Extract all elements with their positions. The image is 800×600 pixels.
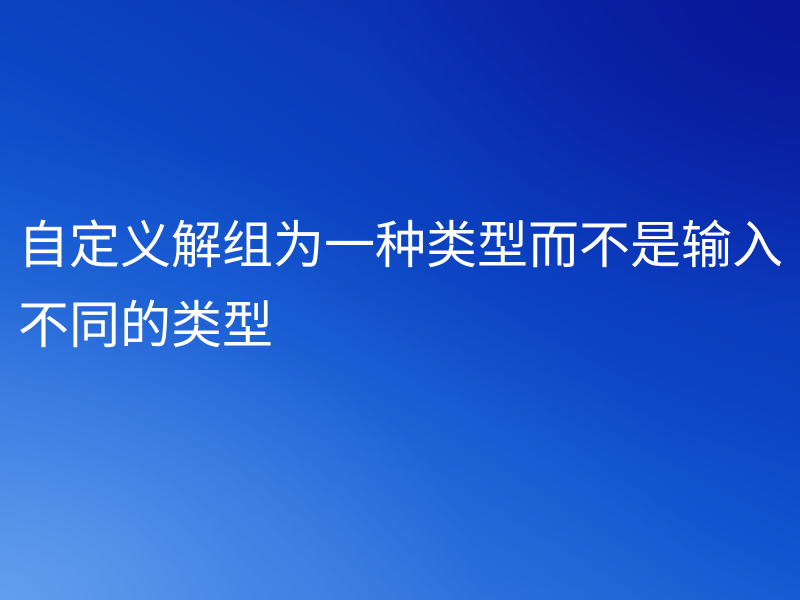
banner-headline: 自定义解组为一种类型而不是输入不同的类型	[18, 206, 790, 366]
gradient-banner: 自定义解组为一种类型而不是输入不同的类型	[0, 0, 800, 600]
headline-block: 自定义解组为一种类型而不是输入不同的类型	[18, 206, 790, 366]
